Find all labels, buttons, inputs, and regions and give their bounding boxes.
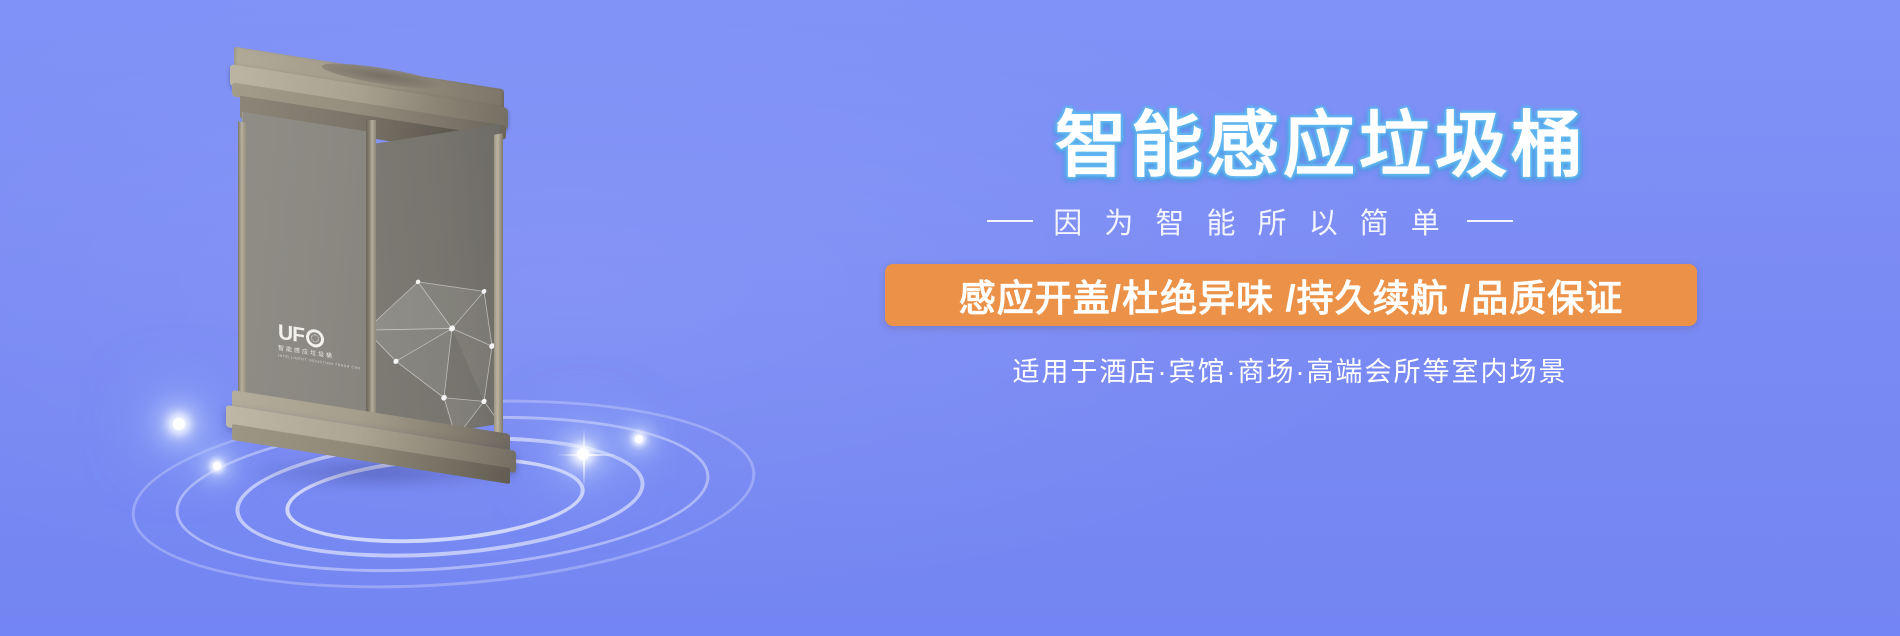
- banner-subline: 因 为 智 能 所 以 简 单: [880, 200, 1620, 242]
- usage-scenarios-text: 适用于酒店·宾馆·商场·高端会所等室内场景: [880, 350, 1700, 389]
- sparkle-icon-right-lower: [635, 435, 643, 443]
- sparkle-icon-left-upper: [173, 418, 185, 430]
- banner-copy: 智能感应垃圾桶 因 为 智 能 所 以 简 单 感应开盖/杜绝异味 /持久续航 …: [880, 110, 1760, 389]
- subline-dash-right-icon: [1467, 220, 1513, 222]
- sparkle-icon-left-lower: [213, 462, 221, 470]
- sparkle-icon-right-upper: [577, 448, 589, 460]
- subline-text: 因 为 智 能 所 以 简 单: [1053, 200, 1446, 242]
- trash-bin-product: UF 智能感应垃圾桶 INTELLIGENT INDUCTION TRASH C…: [230, 60, 530, 460]
- bin-edge-left: [238, 121, 246, 424]
- brand-logo-o-icon: [306, 327, 324, 348]
- brand-logo-letters: UF: [278, 321, 304, 346]
- product-banner: UF 智能感应垃圾桶 INTELLIGENT INDUCTION TRASH C…: [0, 0, 1900, 636]
- feature-badge: 感应开盖/杜绝异味 /持久续航 /品质保证: [885, 264, 1697, 326]
- bin-edge-right: [494, 133, 503, 434]
- bin-corner-pillar: [366, 120, 376, 438]
- subline-dash-left-icon: [987, 220, 1033, 222]
- product-stage: UF 智能感应垃圾桶 INTELLIGENT INDUCTION TRASH C…: [60, 20, 780, 620]
- bin-face-right: [372, 124, 500, 444]
- bin-face-left: [242, 112, 372, 433]
- banner-headline: 智能感应垃圾桶: [1055, 110, 1760, 182]
